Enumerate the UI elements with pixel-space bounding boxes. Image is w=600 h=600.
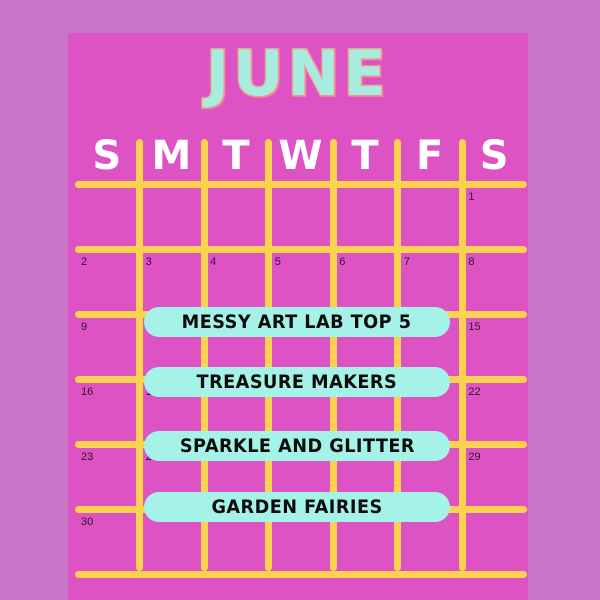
day-cell-16[interactable]: 16: [81, 387, 93, 398]
day-cell-1[interactable]: 1: [468, 192, 474, 203]
event-pill-4[interactable]: GARDEN FAIRIES: [144, 492, 450, 522]
day-cell-23[interactable]: 23: [81, 452, 93, 463]
event-pill-1[interactable]: MESSY ART LAB TOP 5: [144, 307, 450, 337]
event-pill-4-label: GARDEN FAIRIES: [211, 498, 382, 517]
day-cell-3[interactable]: 3: [146, 257, 152, 268]
day-cell-22[interactable]: 22: [468, 387, 480, 398]
day-cell-6[interactable]: 6: [339, 257, 345, 268]
day-cell-5[interactable]: 5: [275, 257, 281, 268]
day-cell-8[interactable]: 8: [468, 257, 474, 268]
event-pill-3-label: SPARKLE AND GLITTER: [179, 437, 414, 456]
day-cell-7[interactable]: 7: [404, 257, 410, 268]
event-pill-3[interactable]: SPARKLE AND GLITTER: [144, 431, 450, 461]
event-pill-1-label: MESSY ART LAB TOP 5: [182, 313, 412, 332]
day-cell-9[interactable]: 9: [81, 322, 87, 333]
day-cell-29[interactable]: 29: [468, 452, 480, 463]
event-pill-2[interactable]: TREASURE MAKERS: [144, 367, 450, 397]
event-pill-2-label: TREASURE MAKERS: [197, 373, 398, 392]
day-cell-30[interactable]: 30: [81, 517, 93, 528]
day-cell-2[interactable]: 2: [81, 257, 87, 268]
calendar-card: JUNE S M T W T F S 123456789101112131415…: [68, 33, 528, 600]
calendar-poster: JUNE S M T W T F S 123456789101112131415…: [0, 0, 600, 600]
day-cell-15[interactable]: 15: [468, 322, 480, 333]
day-cell-4[interactable]: 4: [210, 257, 216, 268]
